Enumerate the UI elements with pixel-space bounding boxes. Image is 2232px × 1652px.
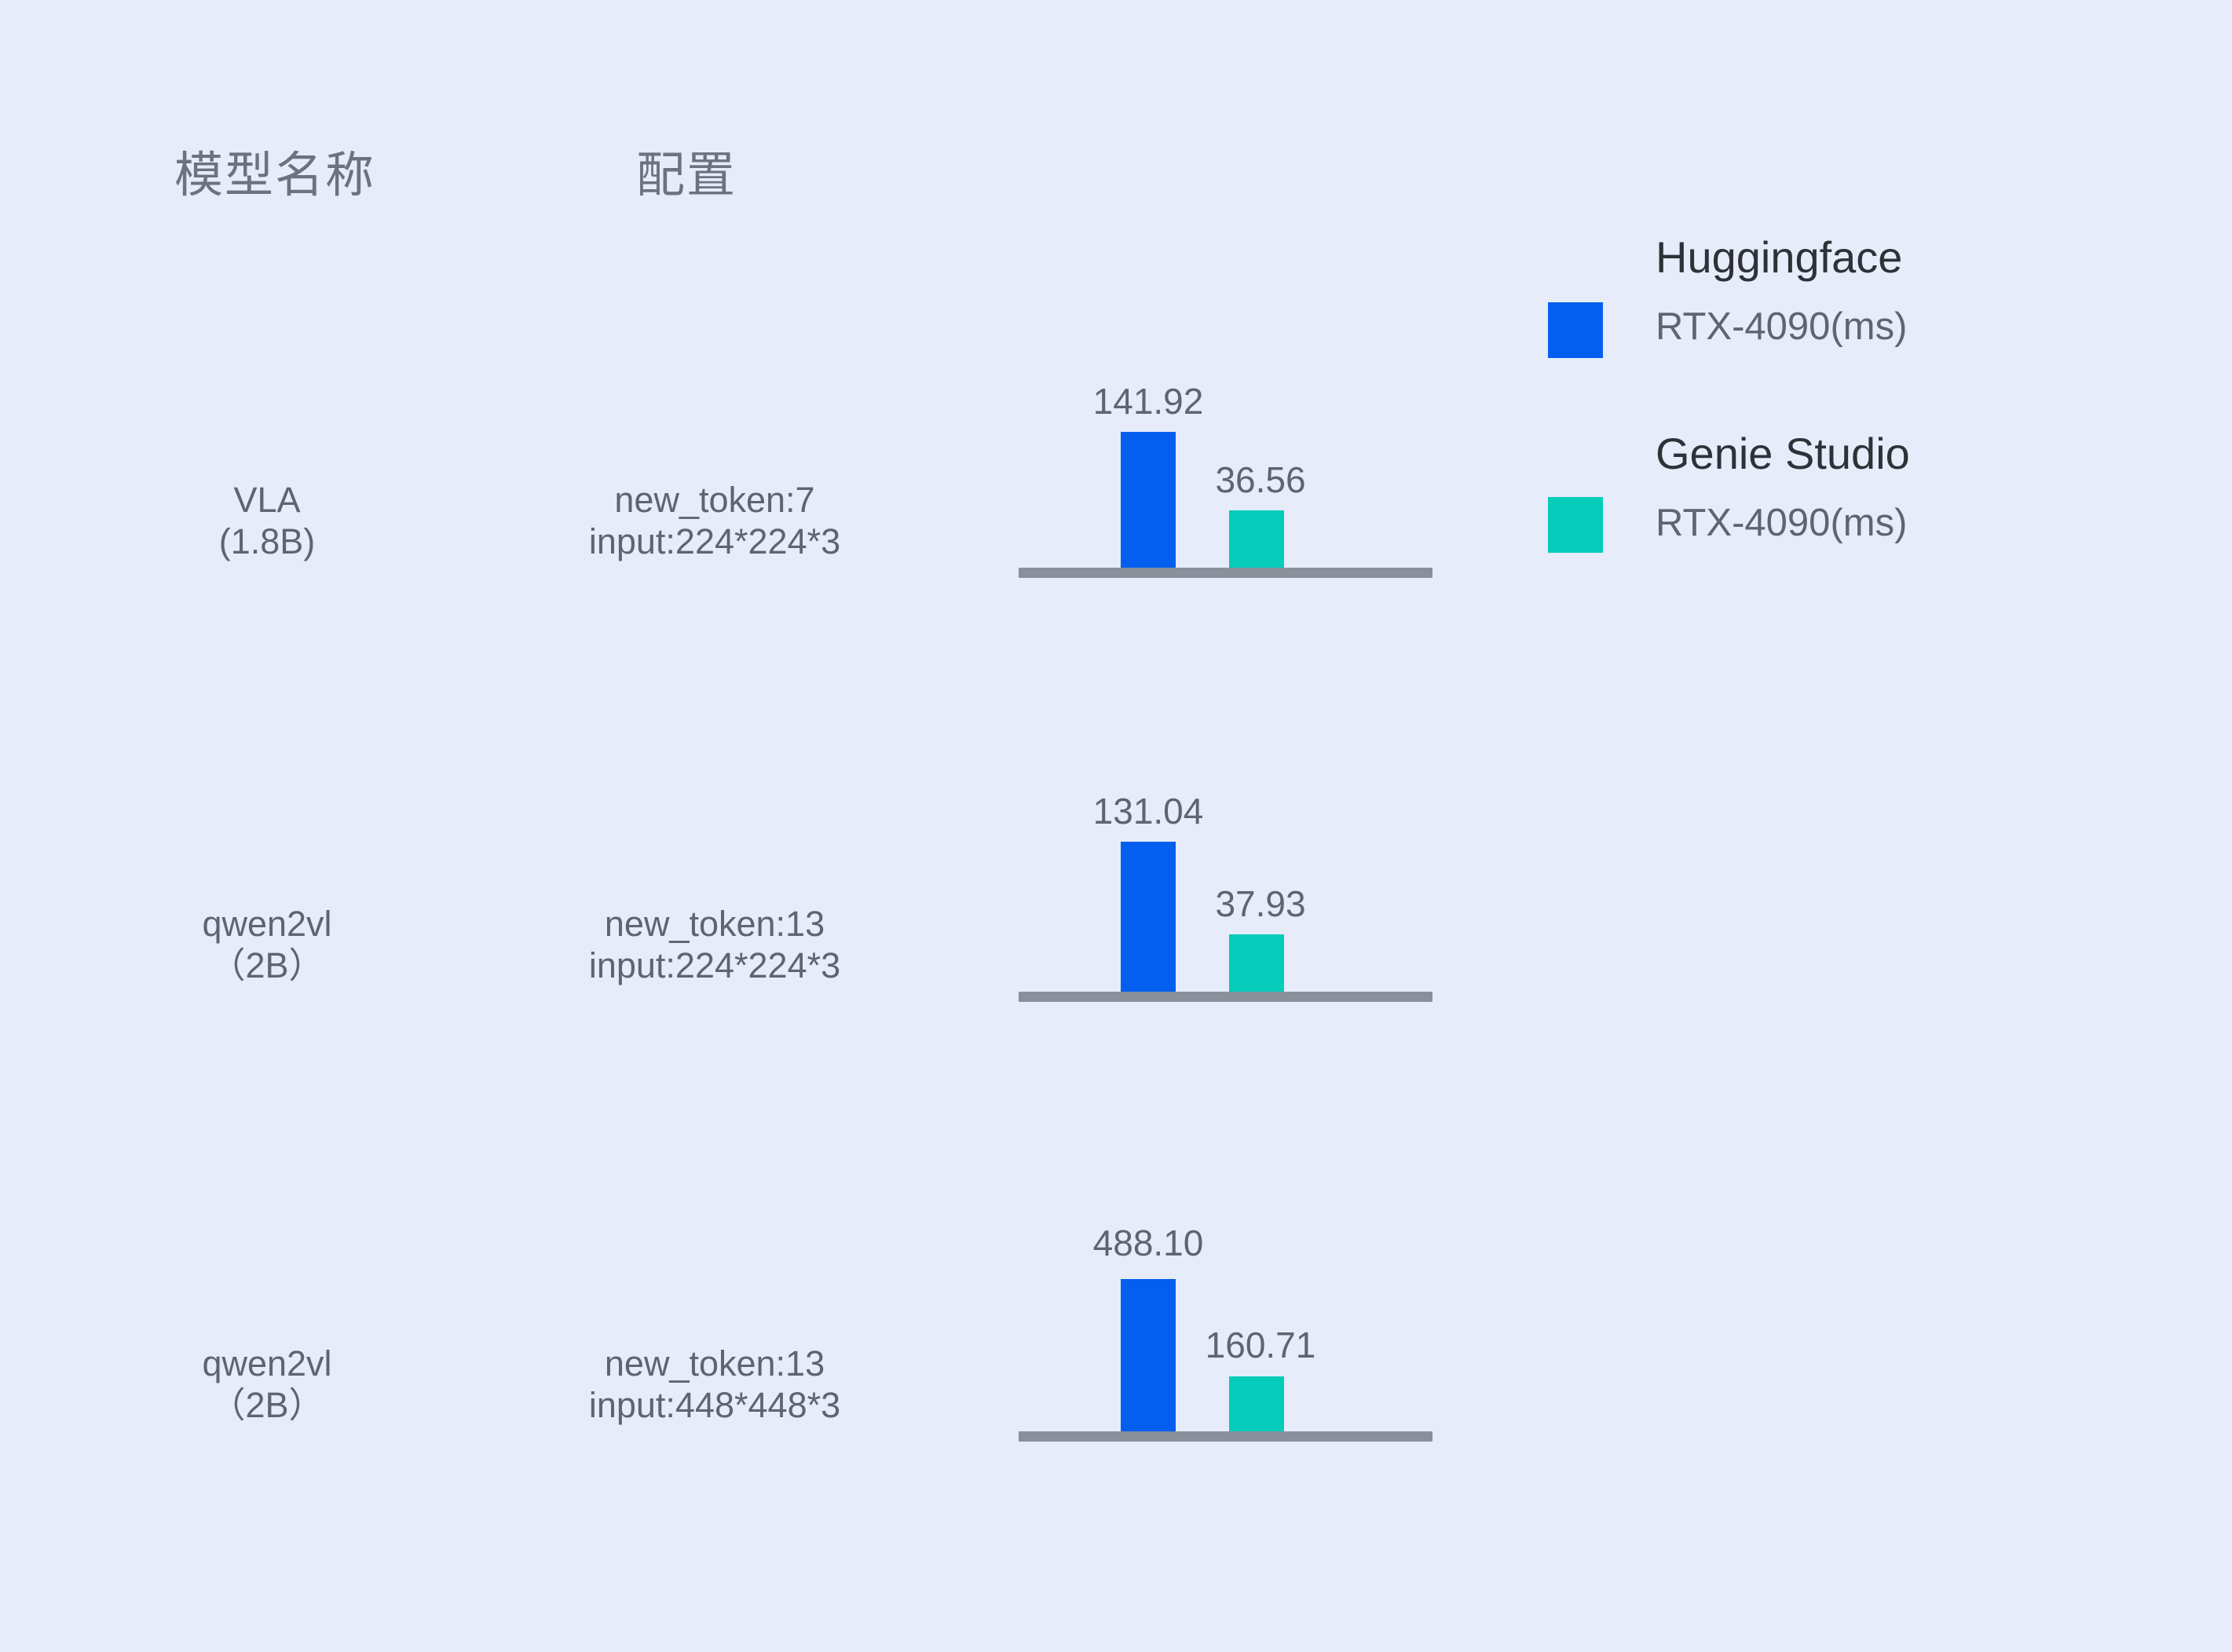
bar-value-secondary: 160.71 — [1206, 1324, 1316, 1366]
config-cell: new_token:13 input:224*224*3 — [471, 903, 958, 986]
model-name-line-1: qwen2vl — [202, 904, 331, 944]
model-name-cell: qwen2vl （2B） — [141, 903, 393, 986]
chart-baseline — [1019, 568, 1433, 578]
bar-value-secondary: 37.93 — [1215, 883, 1305, 925]
config-line-2: input:448*448*3 — [471, 1384, 958, 1426]
genie-studio-swatch-icon — [1548, 497, 1603, 553]
chart-plot-area: 488.10 160.71 — [1019, 1128, 1435, 1442]
bar-chart: 141.92 36.56 — [1019, 259, 1435, 589]
legend-title: Genie Studio — [1656, 432, 1910, 476]
legend-label-group: Genie Studio RTX-4090(ms) — [1656, 432, 1910, 543]
config-cell: new_token:7 input:224*224*3 — [471, 479, 958, 562]
bar-huggingface[interactable] — [1121, 842, 1176, 996]
bar-chart: 131.04 37.93 — [1019, 683, 1435, 1013]
legend-item-genie-studio[interactable]: Genie Studio RTX-4090(ms) — [1543, 432, 2172, 628]
bar-value-primary: 488.10 — [1093, 1222, 1204, 1264]
config-line-1: new_token:7 — [614, 480, 814, 520]
model-name-cell: VLA (1.8B) — [141, 479, 393, 562]
chart-legend: Huggingface RTX-4090(ms) Genie Studio RT… — [1543, 236, 2172, 628]
column-header-model-name: 模型名称 — [174, 135, 375, 206]
bar-value-primary: 131.04 — [1093, 790, 1204, 832]
bar-genie-studio[interactable] — [1229, 510, 1284, 572]
model-name-line-1: qwen2vl — [202, 1343, 331, 1383]
config-line-1: new_token:13 — [605, 904, 825, 944]
bar-huggingface[interactable] — [1121, 432, 1176, 572]
bar-value-primary: 141.92 — [1093, 380, 1204, 422]
huggingface-swatch-icon — [1548, 302, 1603, 358]
model-name-line-2: （2B） — [141, 945, 393, 986]
bar-chart: 488.10 160.71 — [1019, 1123, 1435, 1453]
legend-subtitle: RTX-4090(ms) — [1656, 308, 1907, 346]
benchmark-row: qwen2vl （2B） new_token:13 input:448*448*… — [0, 1303, 2232, 1492]
config-cell: new_token:13 input:448*448*3 — [471, 1343, 958, 1426]
legend-title: Huggingface — [1656, 236, 1907, 280]
chart-plot-area: 141.92 36.56 — [1019, 264, 1435, 578]
column-header-config: 配置 — [636, 135, 737, 206]
benchmark-row: qwen2vl （2B） new_token:13 input:224*224*… — [0, 864, 2232, 1052]
model-name-line-1: VLA — [233, 480, 300, 520]
model-name-cell: qwen2vl （2B） — [141, 1343, 393, 1426]
chart-baseline — [1019, 1431, 1433, 1442]
bar-genie-studio[interactable] — [1229, 1376, 1284, 1435]
bar-genie-studio[interactable] — [1229, 934, 1284, 996]
bar-value-secondary: 36.56 — [1215, 459, 1305, 501]
chart-plot-area: 131.04 37.93 — [1019, 688, 1435, 1002]
config-line-2: input:224*224*3 — [471, 521, 958, 562]
config-line-1: new_token:13 — [605, 1343, 825, 1383]
config-line-2: input:224*224*3 — [471, 945, 958, 986]
chart-baseline — [1019, 992, 1433, 1002]
benchmark-comparison-slide: 模型名称 配置 VLA (1.8B) new_token:7 input:224… — [0, 0, 2232, 1652]
model-name-line-2: （2B） — [141, 1384, 393, 1426]
model-name-line-2: (1.8B) — [141, 521, 393, 562]
legend-item-huggingface[interactable]: Huggingface RTX-4090(ms) — [1543, 236, 2172, 432]
bar-huggingface[interactable] — [1121, 1279, 1176, 1440]
legend-label-group: Huggingface RTX-4090(ms) — [1656, 236, 1907, 346]
legend-subtitle: RTX-4090(ms) — [1656, 504, 1910, 543]
